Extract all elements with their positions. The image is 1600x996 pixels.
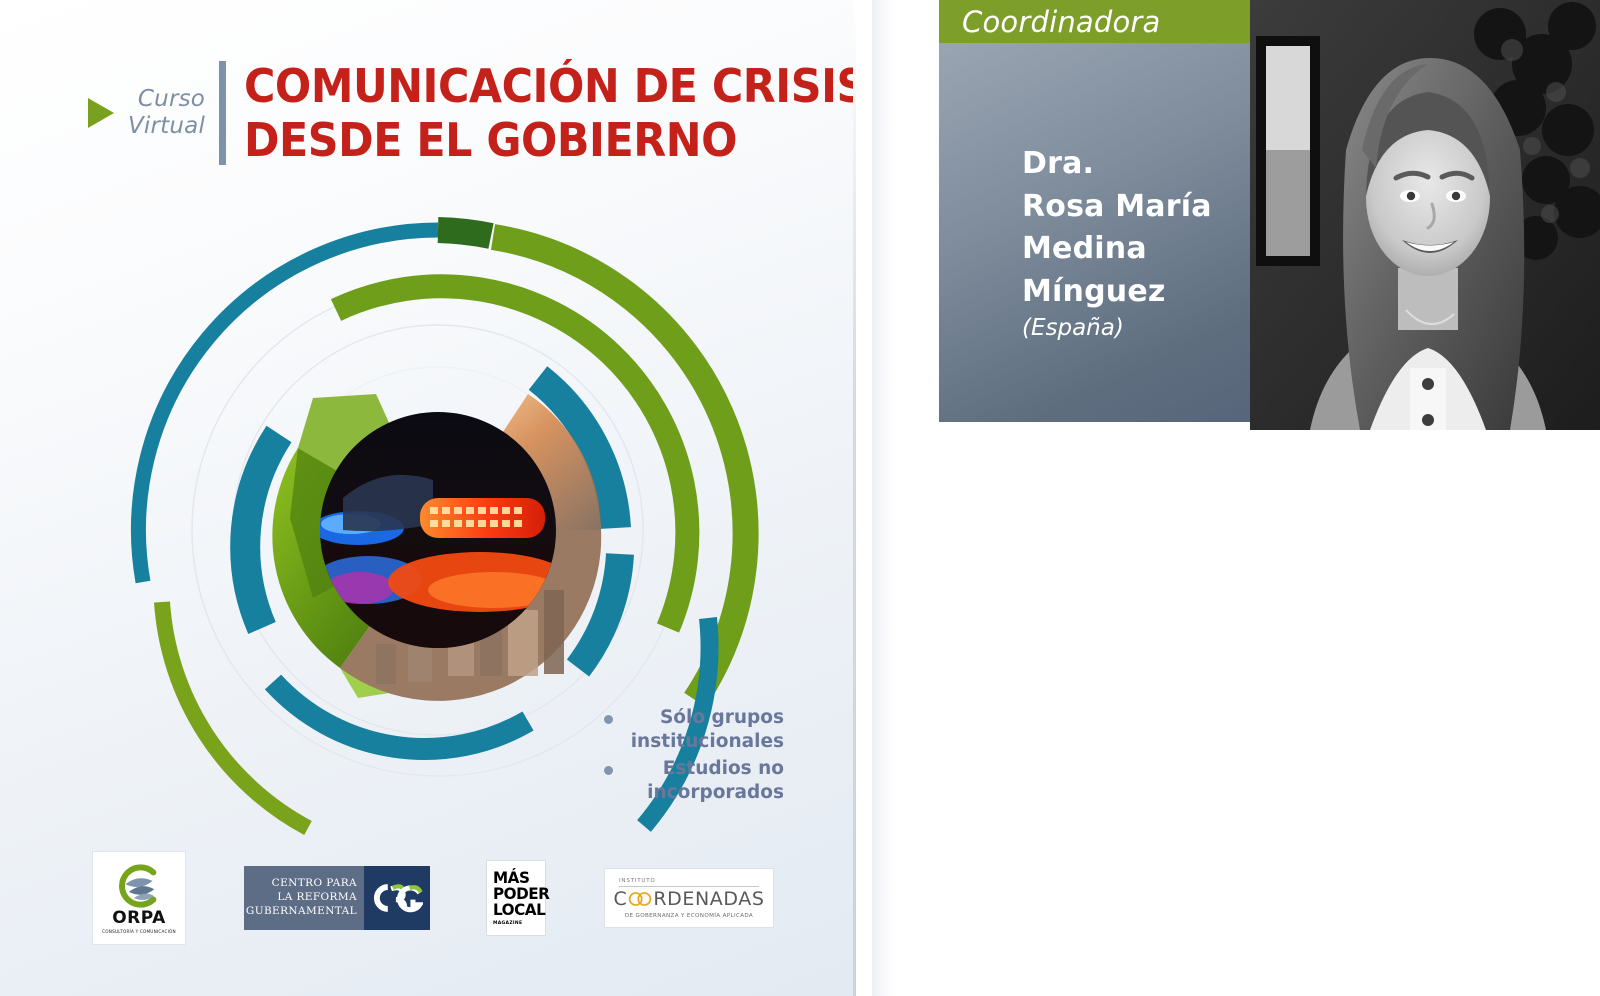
logo-mas-poder-local: MÁS PODER LOCAL MAGAZINE [486, 860, 546, 936]
coordenadas-rule [619, 886, 759, 887]
course-kicker-line-2: Virtual [128, 113, 205, 140]
bullet-dot-icon [604, 766, 613, 775]
coordenadas-rings-icon [627, 891, 653, 907]
mpl-line-4: MAGAZINE [493, 921, 539, 926]
course-conditions-list: Sólo grupos institucionales Estudios no … [604, 706, 784, 808]
course-flyer: Curso Virtual COMUNICACIÓN DE CRISIS DES… [0, 0, 1600, 996]
logo-instituto-coordenadas: INSTITUTO C RDENADAS DE GOBERNANZA Y ECO… [604, 868, 774, 928]
course-condition-text: Sólo grupos institucionales [627, 706, 784, 755]
course-title-line-2: DESDE EL GOBIERNO [244, 113, 856, 167]
crg-text-block: CENTRO PARA LA REFORMA GUBERNAMENTAL [244, 866, 364, 930]
list-item: Estudios no incorporados [604, 757, 784, 806]
bullet-dot-icon [604, 715, 613, 724]
left-panel: Curso Virtual COMUNICACIÓN DE CRISIS DES… [0, 0, 856, 996]
list-item: Sólo grupos institucionales [604, 706, 784, 755]
play-triangle-icon [88, 98, 114, 128]
course-title-line-1: COMUNICACIÓN DE CRISIS [244, 59, 856, 113]
speaker-role-label: Coordinadora [962, 5, 1161, 39]
right-panel: Coordinadora Dra. Rosa María Medina Míng… [872, 0, 1600, 996]
partner-logo-strip: ORPA CONSULTORÍA Y COMUNICACIÓN CENTRO P… [92, 846, 792, 950]
crg-monogram-icon [371, 880, 423, 916]
crg-line-3: GUBERNAMENTAL [246, 905, 357, 919]
course-title-block: Curso Virtual COMUNICACIÓN DE CRISIS DES… [88, 48, 788, 178]
crg-acronym-block [364, 866, 430, 930]
crg-line-1: CENTRO PARA [272, 877, 357, 891]
speaker-last-name-1: Medina [1022, 228, 1282, 271]
coordenadas-name-post: RDENADAS [653, 890, 764, 909]
orpa-tagline: CONSULTORÍA Y COMUNICACIÓN [102, 928, 176, 934]
logo-crg: CENTRO PARA LA REFORMA GUBERNAMENTAL [244, 866, 430, 930]
page-title: COMUNICACIÓN DE CRISIS DESDE EL GOBIERNO [244, 59, 856, 168]
crg-line-2: LA REFORMA [277, 891, 357, 905]
orpa-wordmark: ORPA [112, 910, 166, 927]
speaker-title: Dra. [1022, 143, 1282, 186]
title-divider-rule [219, 61, 226, 165]
course-condition-text: Estudios no incorporados [627, 757, 784, 806]
coordenadas-tagline: DE GOBERNANZA Y ECONOMÍA APLICADA [625, 913, 753, 919]
speaker-last-name-2: Mínguez [1022, 271, 1282, 314]
coordenadas-overline: INSTITUTO [619, 878, 655, 884]
speaker-portrait-photo [1250, 0, 1600, 430]
course-kicker: Curso Virtual [128, 86, 205, 140]
coordenadas-wordmark: C RDENADAS [613, 890, 764, 909]
logo-orpa: ORPA CONSULTORÍA Y COMUNICACIÓN [92, 851, 186, 945]
course-kicker-line-1: Curso [128, 86, 205, 113]
mpl-line-3: LOCAL [493, 902, 537, 918]
orpa-mark-icon [113, 864, 165, 908]
coordenadas-name-pre: C [613, 890, 627, 909]
speaker-country: (España) [1022, 315, 1282, 341]
speaker-name-block: Dra. Rosa María Medina Mínguez (España) [1022, 143, 1282, 341]
speaker-first-name: Rosa María [1022, 186, 1282, 229]
